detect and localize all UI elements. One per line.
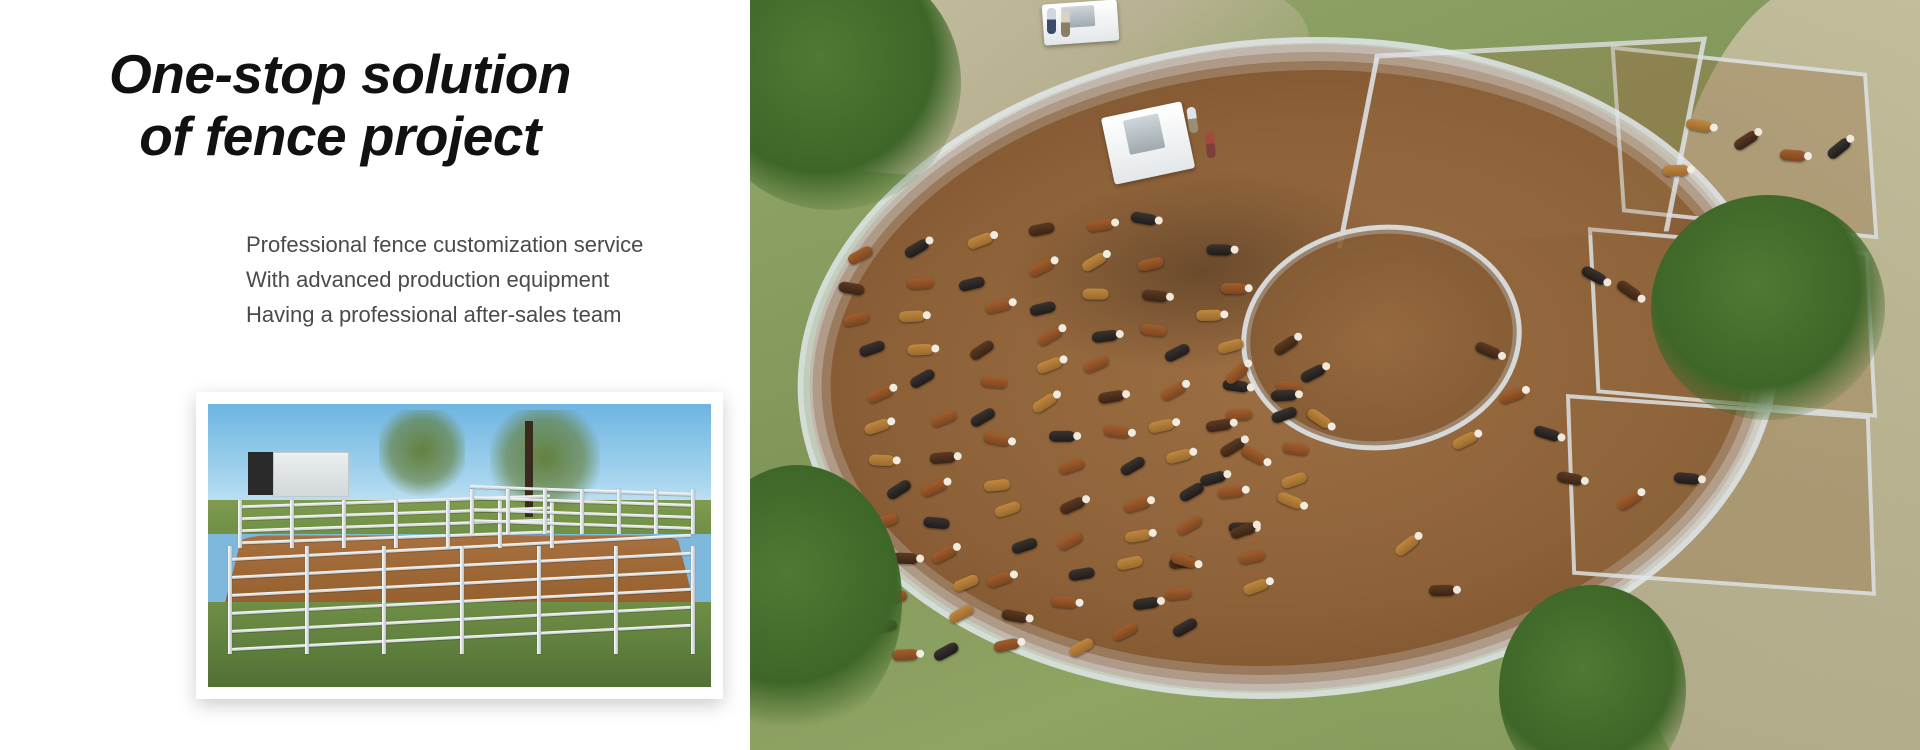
cattle-head xyxy=(1008,569,1018,579)
cattle-head xyxy=(916,555,924,563)
cattle-icon xyxy=(1067,636,1095,658)
inset-fence-post xyxy=(446,500,450,548)
cattle-icon xyxy=(1779,149,1806,162)
inset-fence-panels xyxy=(208,404,711,687)
cattle-head xyxy=(1172,417,1182,427)
cattle-head xyxy=(1008,297,1018,307)
cattle-head xyxy=(1265,576,1275,586)
inset-fence-post xyxy=(394,500,398,548)
cattle-icon xyxy=(920,478,948,498)
cattle-head xyxy=(1121,390,1130,399)
cattle-icon xyxy=(1428,585,1454,596)
cattle-icon xyxy=(932,641,960,663)
cattle-head xyxy=(989,230,999,240)
cattle-icon xyxy=(1159,380,1187,402)
cattle-head xyxy=(1127,429,1136,438)
cattle-icon xyxy=(1141,289,1168,302)
cattle-icon xyxy=(1057,458,1085,477)
cattle-icon xyxy=(1164,448,1192,466)
cattle-icon xyxy=(1010,537,1038,556)
cattle-icon xyxy=(1122,496,1150,514)
cattle-head xyxy=(916,649,924,657)
cattle-icon xyxy=(1027,222,1055,238)
cattle-icon xyxy=(1049,431,1075,442)
cattle-icon xyxy=(947,603,975,626)
left-text-panel: One-stop solution of fence project Profe… xyxy=(0,0,750,750)
cattle-icon xyxy=(984,478,1011,492)
cattle-head xyxy=(888,383,899,394)
cattle-head xyxy=(1686,165,1694,173)
cattle-head xyxy=(1245,284,1253,292)
cattle-icon xyxy=(1058,495,1086,515)
cattle-head xyxy=(1239,434,1250,445)
cattle-icon xyxy=(929,409,957,429)
inset-fence-post xyxy=(342,500,346,548)
cattle-icon xyxy=(1148,418,1176,434)
inset-fence-post xyxy=(537,546,541,655)
inset-fence-post xyxy=(691,489,695,534)
inset-photo-frame xyxy=(196,392,723,699)
cattle-head xyxy=(1231,245,1239,253)
cattle-icon xyxy=(1092,329,1119,343)
inset-fence-post xyxy=(614,546,618,655)
cattle-icon xyxy=(1111,621,1139,643)
subline-item-1: Professional fence customization service xyxy=(246,228,706,263)
cattle-icon xyxy=(846,245,874,267)
inset-fence-post xyxy=(382,546,386,655)
inset-fence-post xyxy=(460,546,464,655)
cattle-icon xyxy=(1272,334,1300,358)
cattle-head xyxy=(923,311,931,319)
cattle-head xyxy=(1154,216,1163,225)
cattle-icon xyxy=(1279,471,1307,490)
cattle-icon xyxy=(968,339,996,363)
cattle-head xyxy=(953,452,962,461)
cattle-icon xyxy=(1137,256,1165,272)
cattle-icon xyxy=(1165,587,1192,601)
hero-banner: One-stop solution of fence project Profe… xyxy=(0,0,1920,750)
cattle-head xyxy=(1059,354,1069,364)
cattle-head xyxy=(1803,152,1812,161)
cattle-icon xyxy=(1282,441,1309,455)
cattle-icon xyxy=(1036,325,1064,347)
cattle-head xyxy=(1180,378,1191,389)
cattle-icon xyxy=(1031,392,1059,415)
cattle-head xyxy=(1007,437,1016,446)
cattle-head xyxy=(1148,528,1157,537)
cattle-icon xyxy=(929,451,956,464)
cattle-icon xyxy=(1080,251,1108,274)
cattle-icon xyxy=(1196,310,1222,322)
cattle-icon xyxy=(868,454,894,466)
cattle-icon xyxy=(903,237,931,260)
cattle-icon xyxy=(842,311,870,328)
cattle-icon xyxy=(1270,389,1297,401)
cattle-icon xyxy=(866,384,894,404)
cattle-icon xyxy=(985,570,1013,589)
cattle-icon xyxy=(1124,528,1151,543)
cattle-head xyxy=(1146,495,1156,505)
cattle-head xyxy=(1165,292,1174,301)
cattle-icon xyxy=(1221,283,1247,294)
cattle-icon xyxy=(1028,300,1056,317)
cattle-head xyxy=(892,456,900,464)
headline-line-1: One-stop solution xyxy=(109,43,571,105)
cattle-head xyxy=(1292,331,1303,342)
cattle-head xyxy=(952,541,963,552)
cattle-icon xyxy=(1140,323,1167,337)
subline-list: Professional fence customization service… xyxy=(246,228,706,332)
cattle-icon xyxy=(993,638,1021,654)
cattle-icon xyxy=(1270,406,1298,425)
inset-fence-post xyxy=(305,546,309,655)
aerial-tree-icon xyxy=(1651,195,1885,420)
cattle-icon xyxy=(980,375,1007,388)
subline-item-2: With advanced production equipment xyxy=(246,263,706,298)
cattle-icon xyxy=(1176,514,1204,537)
cattle-head xyxy=(931,344,939,352)
cattle-icon xyxy=(952,573,980,593)
inset-fence-post xyxy=(290,500,294,548)
inset-fence-post xyxy=(470,489,474,534)
cattle-icon xyxy=(1027,257,1055,279)
cattle-head xyxy=(1453,586,1461,594)
cattle-head xyxy=(1080,494,1091,505)
cattle-icon xyxy=(930,543,958,565)
cattle-icon xyxy=(908,367,936,390)
inset-fence-post xyxy=(580,489,584,534)
main-photo xyxy=(750,0,1920,750)
cattle-icon xyxy=(1171,617,1199,639)
cattle-icon xyxy=(966,231,994,251)
cattle-head xyxy=(1049,255,1060,266)
truck-cab xyxy=(1123,113,1166,155)
cattle-icon xyxy=(1103,425,1130,439)
cattle-icon xyxy=(858,340,886,359)
page-title: One-stop solution of fence project xyxy=(0,44,680,167)
cattle-icon xyxy=(1130,211,1157,226)
cattle-head xyxy=(1156,597,1165,606)
cattle-head xyxy=(1111,217,1120,226)
inset-fence-post xyxy=(617,489,621,534)
cattle-icon xyxy=(1238,549,1266,565)
inset-fence-post xyxy=(238,500,242,548)
cattle-head xyxy=(1116,330,1125,339)
cattle-icon xyxy=(899,310,925,322)
cattle-icon xyxy=(1132,596,1159,610)
cattle-icon xyxy=(1087,217,1114,232)
subline-item-3: Having a professional after-sales team xyxy=(246,298,706,333)
cattle-icon xyxy=(1217,485,1244,499)
cattle-head xyxy=(1102,249,1113,260)
aerial-loading-race xyxy=(1337,37,1707,249)
inset-fence-post xyxy=(498,500,502,548)
inset-fence-post xyxy=(506,489,510,534)
cattle-icon xyxy=(993,500,1021,519)
cattle-icon xyxy=(983,431,1011,447)
cattle-icon xyxy=(907,277,934,289)
cattle-icon xyxy=(1082,354,1110,374)
cattle-icon xyxy=(863,418,891,437)
aerial-person xyxy=(1061,11,1070,37)
cattle-icon xyxy=(969,406,997,429)
cattle-icon xyxy=(1163,342,1191,363)
cattle-icon xyxy=(1036,355,1064,375)
cattle-icon xyxy=(907,343,933,355)
cattle-icon xyxy=(838,281,866,296)
cattle-icon xyxy=(1082,289,1108,300)
cattle-icon xyxy=(1051,595,1078,608)
inset-photo xyxy=(208,404,711,687)
cattle-head xyxy=(1220,311,1228,319)
cattle-icon xyxy=(1207,244,1233,255)
cattle-icon xyxy=(1242,577,1270,596)
cattle-head xyxy=(1025,614,1034,623)
cattle-head xyxy=(1294,390,1302,398)
cattle-head xyxy=(1073,432,1081,440)
cattle-icon xyxy=(1001,609,1029,624)
cattle-icon xyxy=(1217,338,1245,356)
aerial-side-pen xyxy=(1566,394,1876,596)
cattle-head xyxy=(886,417,896,427)
inset-fence-post xyxy=(543,489,547,534)
cattle-head xyxy=(1246,383,1255,392)
cattle-head xyxy=(1016,637,1025,646)
cattle-icon xyxy=(1098,390,1125,405)
cattle-head xyxy=(1051,389,1062,400)
cattle-head xyxy=(1188,447,1198,457)
inset-fence-post xyxy=(654,489,658,534)
cattle-head xyxy=(924,235,935,246)
cattle-head xyxy=(1057,323,1068,334)
cattle-icon xyxy=(1116,555,1144,571)
cattle-icon xyxy=(1662,165,1688,177)
cattle-icon xyxy=(1056,530,1084,552)
cattle-head xyxy=(1241,485,1250,494)
cattle-head xyxy=(1075,598,1084,607)
cattle-icon xyxy=(1674,471,1701,484)
inset-fence-post xyxy=(691,546,695,655)
inset-fence-post xyxy=(228,546,232,655)
cattle-icon xyxy=(892,648,918,660)
headline-line-2: of fence project xyxy=(0,106,680,168)
cattle-icon xyxy=(885,478,913,501)
cattle-icon xyxy=(958,276,986,293)
cattle-icon xyxy=(923,516,950,529)
cattle-icon xyxy=(985,297,1013,314)
cattle-icon xyxy=(1068,567,1095,582)
aerial-person xyxy=(1047,8,1056,34)
cattle-head xyxy=(943,476,954,487)
cattle-icon xyxy=(1119,455,1147,478)
